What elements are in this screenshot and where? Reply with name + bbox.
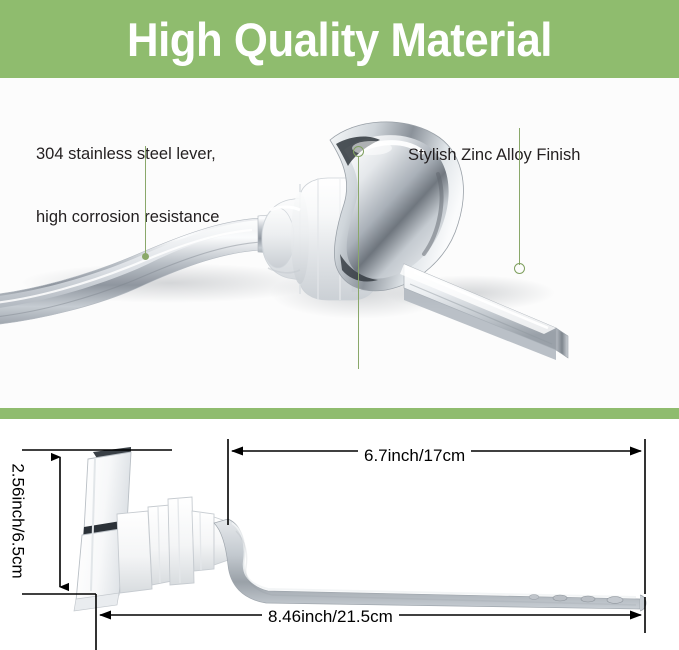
leader-line-left bbox=[145, 146, 146, 256]
page-title: High Quality Material bbox=[127, 12, 552, 67]
ring-marker-right bbox=[514, 263, 525, 274]
leader-line-right bbox=[519, 128, 520, 265]
leader-line-bottom bbox=[358, 157, 359, 369]
feature-callout-left-line2: high corrosion resistance bbox=[36, 207, 219, 228]
ring-marker-bottom bbox=[353, 146, 364, 157]
section-divider bbox=[0, 408, 679, 419]
dimension-label-bottom: 8.46inch/21.5cm bbox=[262, 607, 399, 627]
feature-photo-section: 304 stainless steel lever, high corrosio… bbox=[0, 78, 679, 408]
feature-callout-left: 304 stainless steel lever, high corrosio… bbox=[36, 102, 219, 270]
dimension-label-top: 6.7inch/17cm bbox=[358, 446, 471, 466]
feature-callout-right-line1: Stylish Zinc Alloy Finish bbox=[408, 145, 580, 166]
dimension-label-vertical: 2.56inch/6.5cm bbox=[8, 459, 28, 582]
feature-callout-right: Stylish Zinc Alloy Finish bbox=[408, 103, 580, 208]
leader-endpoint-left bbox=[142, 253, 149, 260]
product-infographic: High Quality Material bbox=[0, 0, 679, 650]
feature-callout-left-line1: 304 stainless steel lever, bbox=[36, 144, 219, 165]
header-banner: High Quality Material bbox=[0, 0, 679, 78]
dimension-diagram-section: 2.56inch/6.5cm 6.7inch/17cm 8.46inch/21.… bbox=[0, 419, 679, 650]
